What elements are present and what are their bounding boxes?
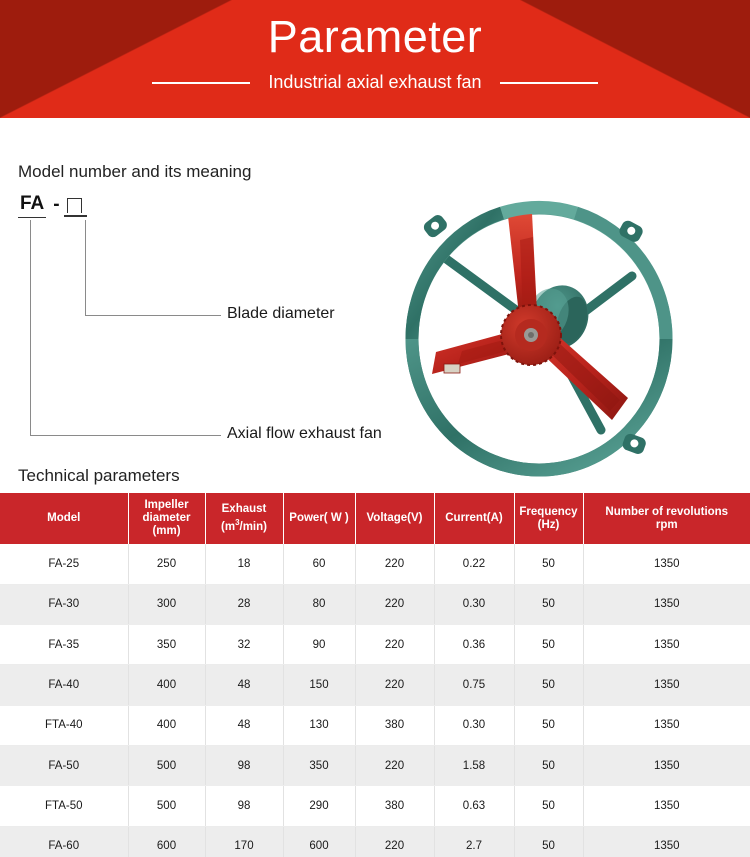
leader-line-axial-horizontal [30,435,221,436]
table-cell-rpm: 1350 [583,584,750,624]
table-cell-voltage: 220 [355,584,434,624]
table-column-header: Number of revolutionsrpm [583,493,750,544]
table-cell-impeller: 350 [128,625,205,665]
table-cell-exhaust: 48 [205,705,283,745]
fan-illustration [396,192,682,480]
table-cell-exhaust: 18 [205,544,283,584]
column-header-line: Current(A) [445,512,503,524]
table-column-header: Frequency(Hz) [514,493,583,544]
table-cell-current: 0.75 [434,665,514,705]
column-header-line: Voltage(V) [366,512,422,524]
table-cell-frequency: 50 [514,786,583,826]
spec-sheet-page: Parameter Industrial axial exhaust fan M… [0,0,750,857]
table-column-header: Exhaust(m3/min) [205,493,283,544]
table-cell-power: 290 [283,786,355,826]
table-cell-impeller: 400 [128,705,205,745]
banner-subtitle-group: Industrial axial exhaust fan [0,72,750,93]
table-column-header: Current(A) [434,493,514,544]
table-cell-power: 60 [283,544,355,584]
placeholder-underline [64,215,87,217]
model-diameter-placeholder-box [67,198,82,213]
table-column-header: Model [0,493,128,544]
table-cell-impeller: 250 [128,544,205,584]
table-cell-impeller: 600 [128,826,205,857]
table-cell-model: FA-40 [0,665,128,705]
table-cell-model: FA-60 [0,826,128,857]
label-blade-diameter: Blade diameter [227,305,335,323]
table-cell-model: FA-35 [0,625,128,665]
column-header-line: rpm [656,519,678,531]
page-title: Parameter [0,8,750,66]
table-cell-power: 130 [283,705,355,745]
page-banner: Parameter Industrial axial exhaust fan [0,0,750,118]
table-cell-current: 0.30 [434,705,514,745]
column-header-line: Power( W ) [289,512,348,524]
table-cell-rpm: 1350 [583,745,750,785]
table-cell-current: 0.22 [434,544,514,584]
column-header-line: (Hz) [538,519,560,531]
table-cell-voltage: 380 [355,705,434,745]
column-header-line: Number of revolutions [605,506,728,518]
table-cell-power: 90 [283,625,355,665]
model-section-heading: Model number and its meaning [18,162,251,182]
table-cell-exhaust: 170 [205,826,283,857]
table-row: FA-3030028802200.30501350 [0,584,750,624]
table-cell-model: FA-30 [0,584,128,624]
table-row: FTA-40400481303800.30501350 [0,705,750,745]
subtitle-rule-left [152,82,250,84]
table-cell-voltage: 220 [355,625,434,665]
table-row: FA-40400481502200.75501350 [0,665,750,705]
technical-parameters-table-wrap: ModelImpellerdiameter(mm)Exhaust(m3/min)… [0,493,750,857]
table-cell-current: 0.36 [434,625,514,665]
table-cell-power: 80 [283,584,355,624]
column-header-line: Frequency [519,506,577,518]
table-cell-exhaust: 98 [205,745,283,785]
table-cell-power: 350 [283,745,355,785]
table-cell-impeller: 300 [128,584,205,624]
model-prefix: FA [18,193,46,218]
table-cell-frequency: 50 [514,705,583,745]
tech-section-heading: Technical parameters [18,466,180,486]
model-separator: - [46,194,66,218]
column-header-line: (m3/min) [221,521,267,533]
column-header-line: Model [47,512,80,524]
product-photo-axial-fan [396,192,682,480]
leader-line-axial-vertical [30,220,31,436]
table-cell-frequency: 50 [514,544,583,584]
table-cell-rpm: 1350 [583,705,750,745]
technical-parameters-table: ModelImpellerdiameter(mm)Exhaust(m3/min)… [0,493,750,857]
table-cell-current: 1.58 [434,745,514,785]
table-cell-rpm: 1350 [583,665,750,705]
table-cell-rpm: 1350 [583,826,750,857]
table-row: FA-3535032902200.36501350 [0,625,750,665]
column-header-line: Exhaust [222,503,267,515]
table-row: FA-2525018602200.22501350 [0,544,750,584]
table-cell-rpm: 1350 [583,625,750,665]
table-cell-frequency: 50 [514,625,583,665]
table-column-header: Impellerdiameter(mm) [128,493,205,544]
table-cell-current: 0.30 [434,584,514,624]
table-row: FA-50500983502201.58501350 [0,745,750,785]
label-axial-flow-exhaust-fan: Axial flow exhaust fan [227,425,382,443]
table-cell-frequency: 50 [514,826,583,857]
table-row: FA-606001706002202.7501350 [0,826,750,857]
table-cell-voltage: 380 [355,786,434,826]
table-cell-model: FTA-40 [0,705,128,745]
column-header-line: Impeller [144,499,188,511]
table-cell-model: FA-25 [0,544,128,584]
table-cell-frequency: 50 [514,745,583,785]
table-cell-model: FTA-50 [0,786,128,826]
leader-line-blade-horizontal [85,315,221,316]
fan-ring-upper-left [412,213,502,339]
table-cell-exhaust: 98 [205,786,283,826]
table-column-header: Voltage(V) [355,493,434,544]
table-header: ModelImpellerdiameter(mm)Exhaust(m3/min)… [0,493,750,544]
table-cell-rpm: 1350 [583,786,750,826]
page-subtitle: Industrial axial exhaust fan [268,72,481,93]
table-cell-voltage: 220 [355,665,434,705]
table-cell-voltage: 220 [355,544,434,584]
column-header-line: (mm) [152,525,180,537]
table-cell-impeller: 500 [128,786,205,826]
fan-ring-top [502,207,576,213]
model-number-diagram: FA - Blade diameter Axial flow exhaust f… [18,193,418,448]
table-cell-power: 600 [283,826,355,857]
table-cell-exhaust: 48 [205,665,283,705]
subtitle-rule-right [500,82,598,84]
fan-hub [501,305,561,365]
table-cell-current: 0.63 [434,786,514,826]
table-row: FTA-50500982903800.63501350 [0,786,750,826]
table-cell-voltage: 220 [355,826,434,857]
table-cell-voltage: 220 [355,745,434,785]
table-body: FA-2525018602200.22501350FA-303002880220… [0,544,750,857]
table-cell-rpm: 1350 [583,544,750,584]
table-cell-current: 2.7 [434,826,514,857]
table-cell-exhaust: 32 [205,625,283,665]
leader-line-blade-vertical [85,220,86,316]
table-cell-impeller: 500 [128,745,205,785]
table-cell-exhaust: 28 [205,584,283,624]
table-cell-power: 150 [283,665,355,705]
table-column-header: Power( W ) [283,493,355,544]
model-code-display: FA - [18,193,82,218]
table-header-row: ModelImpellerdiameter(mm)Exhaust(m3/min)… [0,493,750,544]
column-header-line: diameter [143,512,191,524]
table-cell-impeller: 400 [128,665,205,705]
table-cell-frequency: 50 [514,665,583,705]
table-cell-frequency: 50 [514,584,583,624]
table-cell-model: FA-50 [0,745,128,785]
